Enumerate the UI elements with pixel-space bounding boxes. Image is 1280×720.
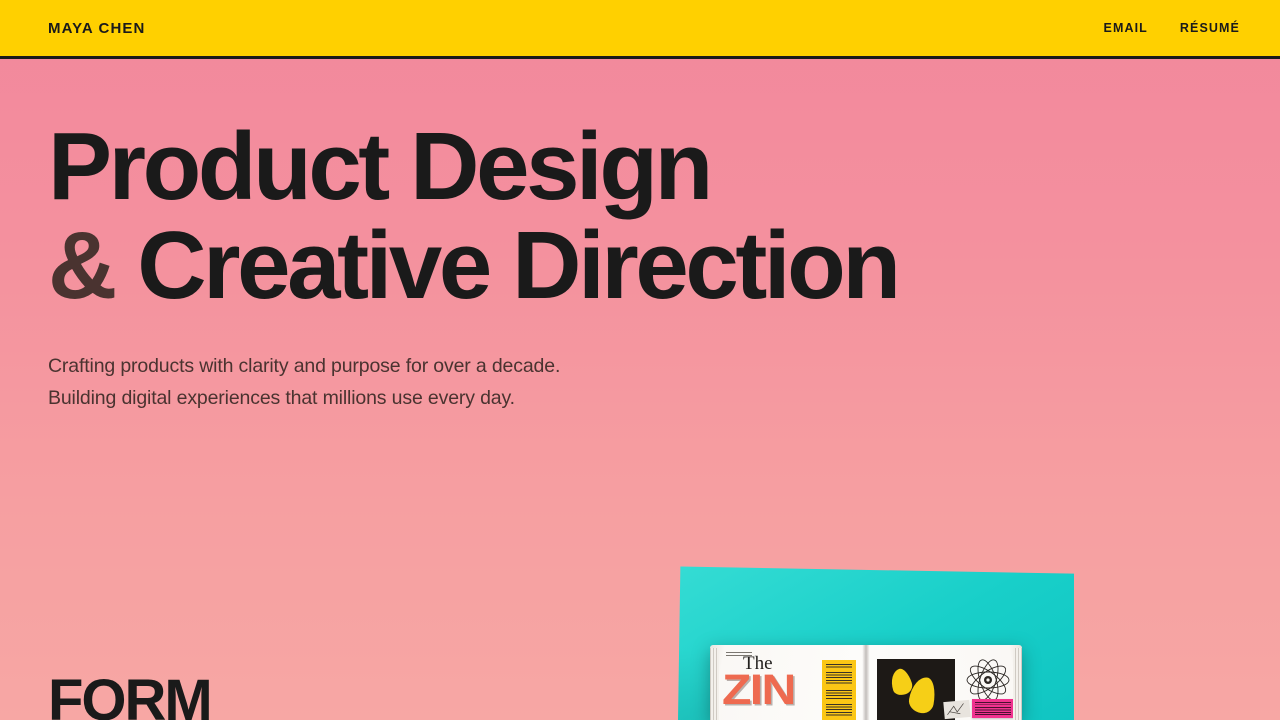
primary-navigation: EMAIL RÉSUMÉ: [1104, 21, 1240, 35]
page-edge-left: [710, 648, 719, 720]
hero-ampersand: &: [48, 212, 114, 319]
sidebar-text-block-4: [826, 704, 852, 716]
magazine-left-page: The ZIN: [710, 645, 866, 720]
sidebar-text-block-2: [826, 672, 852, 685]
hero-section: Product Design & Creative Direction Craf…: [0, 59, 1280, 414]
magazine-spine: [863, 645, 870, 720]
pear-shape-large-icon: [907, 675, 938, 715]
magenta-sticky-note: [972, 699, 1014, 718]
sidebar-text-block-1: [826, 664, 852, 669]
sidebar-text-block-3: [826, 690, 852, 700]
hero-headline-line-2: & Creative Direction: [48, 218, 1232, 313]
section-heading-form: FORM: [48, 672, 211, 720]
open-magazine: The ZIN: [710, 645, 1022, 720]
hero-headline: Product Design & Creative Direction: [48, 119, 1232, 313]
nav-link-resume[interactable]: RÉSUMÉ: [1180, 21, 1240, 35]
sticky-note-heading: [975, 702, 1011, 705]
magazine-sketch-thumbnail: [943, 700, 970, 719]
magazine-page-number: [991, 651, 1013, 656]
page-edge-right: [1013, 648, 1022, 720]
hero-subtitle-line-2: Building digital experiences that millio…: [48, 383, 1232, 415]
site-header: MAYA CHEN EMAIL RÉSUMÉ: [0, 0, 1280, 59]
atom-diagram-icon: [965, 659, 1011, 701]
magazine-title-display: ZIN: [722, 669, 795, 712]
showcase-image: The ZIN: [678, 564, 1074, 720]
magazine-yellow-sidebar: [822, 660, 856, 720]
magazine-right-page: [866, 645, 1022, 720]
hero-subtitle-line-1: Crafting products with clarity and purpo…: [48, 351, 1232, 383]
hero-subtitle: Crafting products with clarity and purpo…: [48, 351, 1232, 414]
hero-headline-line-2-text: Creative Direction: [137, 212, 897, 319]
hero-headline-line-1: Product Design: [48, 113, 710, 220]
sticky-note-body: [975, 707, 1011, 715]
nav-link-email[interactable]: EMAIL: [1104, 21, 1148, 35]
page-title: MAYA CHEN: [48, 20, 145, 37]
